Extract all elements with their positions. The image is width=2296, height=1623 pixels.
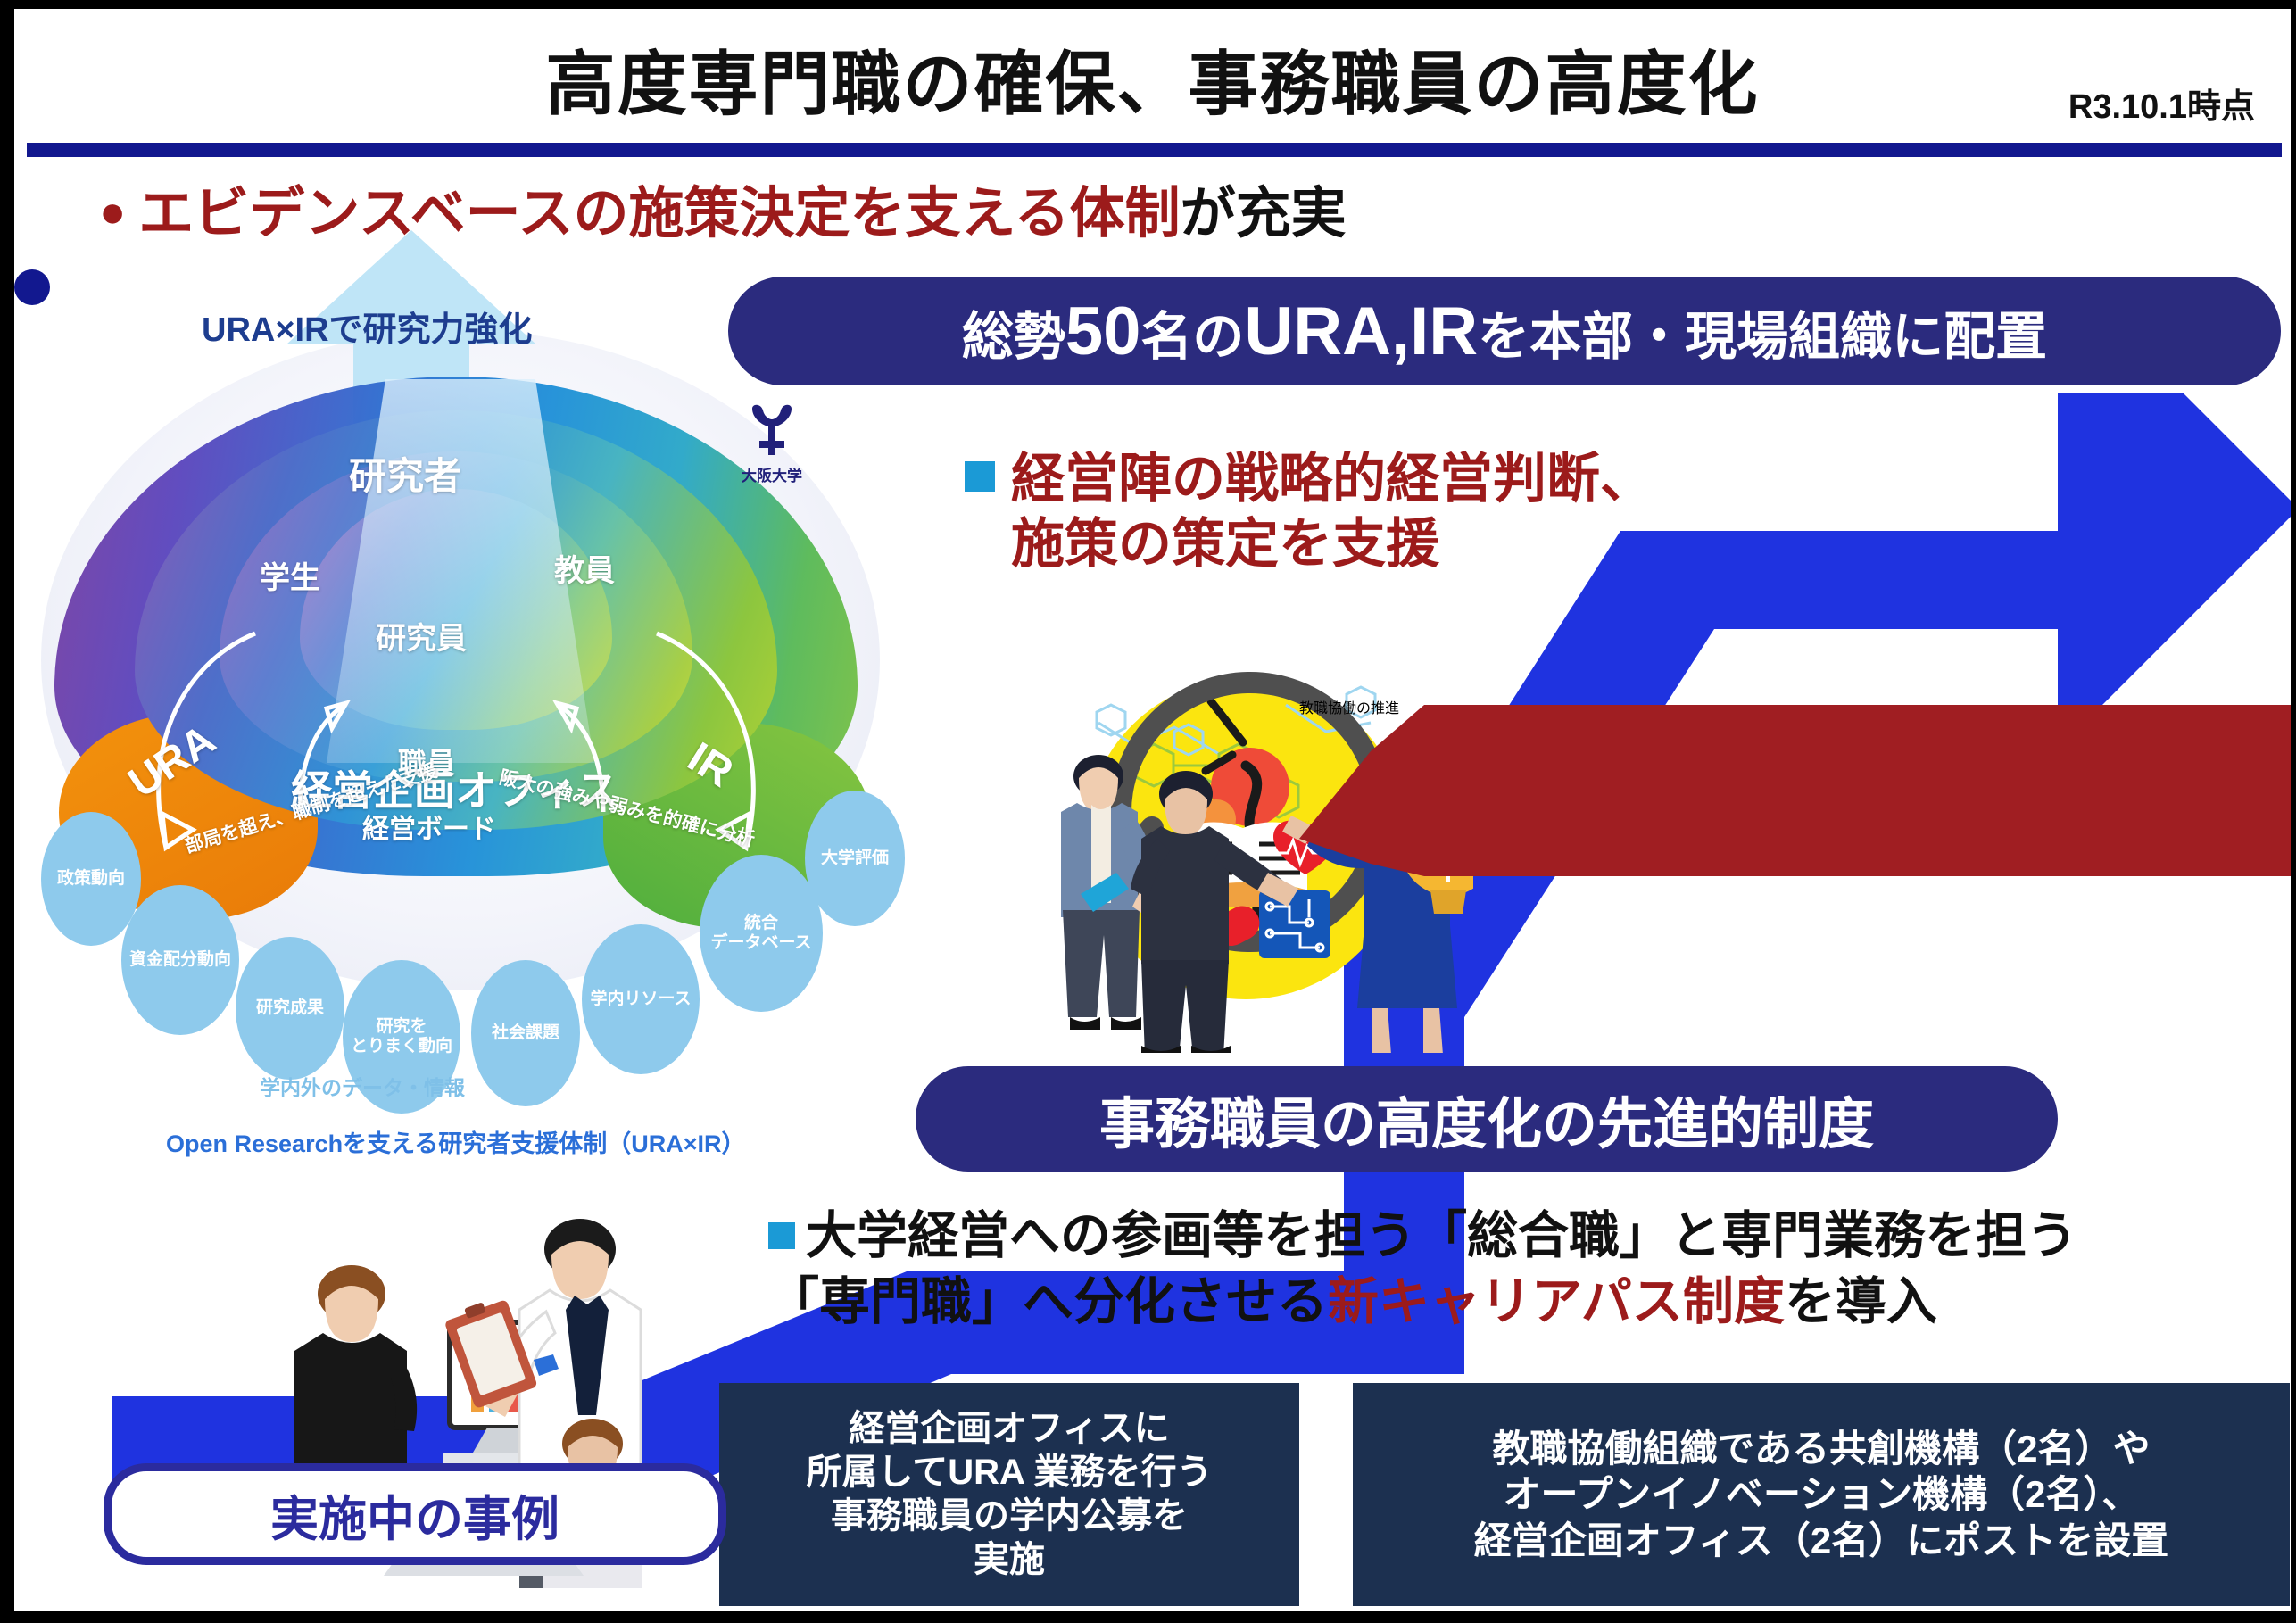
block-support-line2: 施策の策定を支援	[1011, 511, 1654, 576]
header-rule	[27, 143, 2282, 157]
block-career-line1: 大学経営への参画等を担う「総合職」と専門業務を担う	[806, 1207, 2077, 1264]
block-career-line1-row: 大学経営への参画等を担う「総合職」と専門業務を担う	[768, 1203, 2077, 1269]
bullet-dot-icon: ●	[99, 186, 126, 236]
block-support-line1-row: 経営陣の戦略的経営判断、	[965, 446, 1654, 511]
pill-deployment-text: 総勢50名のURA,IRを本部・現場組織に配置	[962, 293, 2047, 370]
pill-advanced-system: 事務職員の高度化の先進的制度	[916, 1066, 2058, 1172]
dark-box-left-text: 経営企画オフィスに 所属してURA 業務を行う 事務職員の学内公募を 実施	[806, 1407, 1212, 1581]
pill-prefix: 総勢	[962, 308, 1065, 366]
pill-number: 50	[1065, 294, 1141, 369]
block-career: 大学経営への参画等を担う「総合職」と専門業務を担う 「専門職」へ分化させる新キャ…	[768, 1203, 2077, 1335]
block-career-line2-red: 新キャリアパス制度	[1328, 1273, 1785, 1330]
dark-box-right: 教職協働組織である共創機構（2名）や オープンイノベーション機構（2名）、 経営…	[1353, 1383, 2290, 1606]
block-support-line1: 経営陣の戦略的経営判断、	[1011, 449, 1654, 509]
pill-suffix: を本部・現場組織に配置	[1478, 308, 2047, 366]
pill-cases: 実施中の事例	[104, 1463, 726, 1565]
red-banner-arrow	[1299, 696, 2296, 901]
slide-root: 高度専門職の確保、事務職員の高度化 R3.10.1時点 ●エビデンスベースの施策…	[0, 0, 2296, 1623]
square-bullet-icon	[965, 461, 995, 492]
dark-box-right-text: 教職協働組織である共創機構（2名）や オープンイノベーション機構（2名）、 経営…	[1474, 1426, 2169, 1563]
block-career-line2a: 「専門職」へ分化させる	[768, 1273, 1328, 1330]
block-support: 経営陣の戦略的経営判断、 施策の策定を支援	[965, 446, 1654, 576]
pill-cases-label: 実施中の事例	[270, 1479, 559, 1550]
headline-black: が充実	[1181, 183, 1347, 244]
as-of-date: R3.10.1時点	[2068, 79, 2255, 128]
block-career-line2b: を導入	[1785, 1273, 1937, 1330]
page-title: 高度専門職の確保、事務職員の高度化	[14, 29, 2291, 128]
pill-acronym: URA,IR	[1244, 294, 1478, 369]
square-bullet-icon	[768, 1222, 795, 1249]
dark-box-left: 経営企画オフィスに 所属してURA 業務を行う 事務職員の学内公募を 実施	[719, 1383, 1299, 1606]
pill-middle: 名の	[1140, 308, 1244, 366]
block-career-line2-row: 「専門職」へ分化させる新キャリアパス制度を導入	[768, 1269, 2077, 1335]
pill-advanced-system-label: 事務職員の高度化の先進的制度	[1099, 1079, 1874, 1159]
diagram-arrow-caption: URA×IRで研究力強化	[202, 302, 533, 351]
pill-deployment: 総勢50名のURA,IRを本部・現場組織に配置	[728, 277, 2281, 385]
